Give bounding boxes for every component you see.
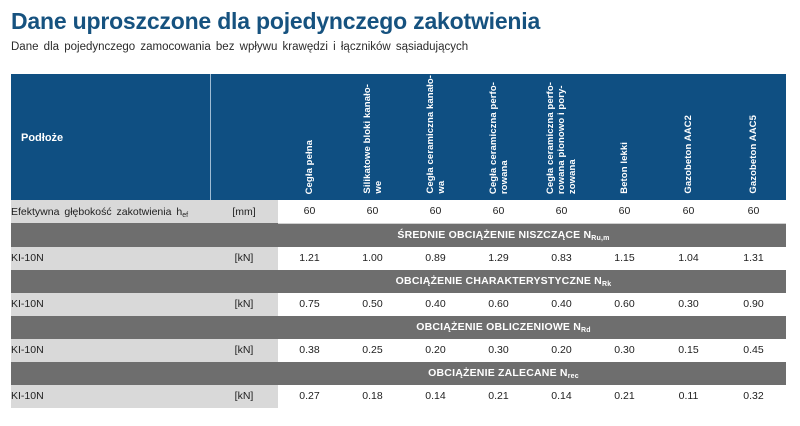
band-cell-0: ŚREDNIE OBCIĄŻENIE NISZCZĄCE NRu,m <box>11 223 786 247</box>
cell-s1-2: 0.40 <box>404 293 467 316</box>
header-cell-col-6: Gazobeton AAC2 <box>656 74 721 200</box>
band-title-2: OBCIĄŻENIE OBLICZENIOWE N <box>416 321 581 333</box>
header-substrate-label: Podłoże <box>21 132 63 144</box>
cell-s2-0: 0.38 <box>278 339 341 362</box>
table-header-row: Podłoże Cegła pełna Silikatowe bloki kan… <box>11 74 786 200</box>
anchor-data-table-wrapper: Podłoże Cegła pełna Silikatowe bloki kan… <box>11 74 786 408</box>
header-col-label-1: Silikatowe bloki kanało- we <box>362 84 384 194</box>
header-cell-col-0: Cegła pełna <box>278 74 341 200</box>
header-rotate-holder-1: Silikatowe bloki kanało- we <box>341 74 404 200</box>
table-row-recommended-load: KI-10N [kN] 0.27 0.18 0.14 0.21 0.14 0.2… <box>11 385 786 408</box>
cell-s0-5: 1.15 <box>593 247 656 270</box>
band-cell-2: OBCIĄŻENIE OBLICZENIOWE NRd <box>11 316 786 339</box>
header-rotate-holder-7: Gazobeton AAC5 <box>721 74 786 200</box>
header-col-label-4: Cegła ceramiczna perfo- rowana pionowo i… <box>545 82 578 194</box>
page-root: Dane uproszczone dla pojedynczego zakotw… <box>0 0 800 426</box>
header-rotate-holder-4: Cegła ceramiczna perfo- rowana pionowo i… <box>530 74 593 200</box>
cell-s0-7: 1.31 <box>721 247 786 270</box>
cell-s2-6: 0.15 <box>656 339 721 362</box>
cell-depth-6: 60 <box>656 200 721 223</box>
cell-depth-5: 60 <box>593 200 656 223</box>
cell-s3-4: 0.14 <box>530 385 593 408</box>
header-rotate-holder-2: Cegła ceramiczna kanało- wa <box>404 74 467 200</box>
band-inner-1: OBCIĄŻENIE CHARAKTERYSTYCZNE NRk <box>11 275 786 287</box>
row-label-effective-depth: Efektywna głębokość zakotwienia hef <box>11 200 210 223</box>
band-subscript-1: Rk <box>602 281 611 288</box>
page-title: Dane uproszczone dla pojedynczego zakotw… <box>11 8 540 35</box>
band-inner-0: ŚREDNIE OBCIĄŻENIE NISZCZĄCE NRu,m <box>11 229 786 241</box>
row-unit-3: [kN] <box>210 385 278 408</box>
header-rotate-holder-0: Cegła pełna <box>279 74 342 200</box>
cell-s3-2: 0.14 <box>404 385 467 408</box>
row-label-2: KI-10N <box>11 339 210 362</box>
header-cell-col-3: Cegła ceramiczna perfo- rowana <box>467 74 530 200</box>
header-col-label-5: Beton lekki <box>619 142 630 194</box>
cell-s0-0: 1.21 <box>278 247 341 270</box>
table-row-mean-ultimate-load: KI-10N [kN] 1.21 1.00 0.89 1.29 0.83 1.1… <box>11 247 786 270</box>
cell-s0-1: 1.00 <box>341 247 404 270</box>
cell-s1-7: 0.90 <box>721 293 786 316</box>
band-title-0: ŚREDNIE OBCIĄŻENIE NISZCZĄCE N <box>397 229 591 241</box>
section-band-characteristic-load: OBCIĄŻENIE CHARAKTERYSTYCZNE NRk <box>11 270 786 293</box>
header-cell-col-1: Silikatowe bloki kanało- we <box>341 74 404 200</box>
band-inner-2: OBCIĄŻENIE OBLICZENIOWE NRd <box>11 321 786 333</box>
anchor-data-table: Podłoże Cegła pełna Silikatowe bloki kan… <box>11 74 786 408</box>
header-cell-unit <box>210 74 278 200</box>
header-rotate-holder-6: Gazobeton AAC2 <box>656 74 721 200</box>
cell-s1-6: 0.30 <box>656 293 721 316</box>
row-unit-0: [kN] <box>210 247 278 270</box>
row-label-subscript: ef <box>182 212 188 219</box>
section-band-recommended-load: OBCIĄŻENIE ZALECANE Nrec <box>11 362 786 385</box>
cell-depth-4: 60 <box>530 200 593 223</box>
band-subscript-2: Rd <box>581 327 591 334</box>
cell-s3-5: 0.21 <box>593 385 656 408</box>
header-col-label-3: Cegła ceramiczna perfo- rowana <box>488 82 510 194</box>
header-cell-col-4: Cegła ceramiczna perfo- rowana pionowo i… <box>530 74 593 200</box>
band-subscript-0: Ru,m <box>591 235 609 242</box>
row-unit-2: [kN] <box>210 339 278 362</box>
header-cell-col-2: Cegła ceramiczna kanało- wa <box>404 74 467 200</box>
cell-s2-2: 0.20 <box>404 339 467 362</box>
cell-depth-1: 60 <box>341 200 404 223</box>
band-inner-3: OBCIĄŻENIE ZALECANE Nrec <box>11 367 786 379</box>
cell-s2-7: 0.45 <box>721 339 786 362</box>
table-row-characteristic-load: KI-10N [kN] 0.75 0.50 0.40 0.60 0.40 0.6… <box>11 293 786 316</box>
cell-s3-0: 0.27 <box>278 385 341 408</box>
header-rotate-holder-5: Beton lekki <box>593 74 656 200</box>
band-subscript-3: rec <box>568 373 579 380</box>
header-col-label-0: Cegła pełna <box>304 140 315 194</box>
section-band-design-load: OBCIĄŻENIE OBLICZENIOWE NRd <box>11 316 786 339</box>
cell-s2-4: 0.20 <box>530 339 593 362</box>
page-subtitle: Dane dla pojedynczego zamocowania bez wp… <box>11 41 468 53</box>
cell-s1-4: 0.40 <box>530 293 593 316</box>
row-unit-effective-depth: [mm] <box>210 200 278 223</box>
band-title-1: OBCIĄŻENIE CHARAKTERYSTYCZNE N <box>396 275 602 287</box>
cell-s0-3: 1.29 <box>467 247 530 270</box>
row-label-text: Efektywna głębokość zakotwienia h <box>11 206 182 218</box>
cell-s0-4: 0.83 <box>530 247 593 270</box>
header-cell-col-7: Gazobeton AAC5 <box>721 74 786 200</box>
band-cell-1: OBCIĄŻENIE CHARAKTERYSTYCZNE NRk <box>11 270 786 293</box>
cell-s1-0: 0.75 <box>278 293 341 316</box>
cell-s0-6: 1.04 <box>656 247 721 270</box>
row-label-1: KI-10N <box>11 293 210 316</box>
header-col-label-7: Gazobeton AAC5 <box>748 115 759 194</box>
cell-depth-7: 60 <box>721 200 786 223</box>
cell-s2-1: 0.25 <box>341 339 404 362</box>
cell-s1-5: 0.60 <box>593 293 656 316</box>
cell-depth-0: 60 <box>278 200 341 223</box>
cell-s2-5: 0.30 <box>593 339 656 362</box>
cell-s3-1: 0.18 <box>341 385 404 408</box>
row-unit-1: [kN] <box>210 293 278 316</box>
header-col-label-6: Gazobeton AAC2 <box>683 115 694 194</box>
table-row-effective-depth: Efektywna głębokość zakotwienia hef [mm]… <box>11 200 786 223</box>
header-col-label-2: Cegła ceramiczna kanało- wa <box>425 75 447 194</box>
table-row-design-load: KI-10N [kN] 0.38 0.25 0.20 0.30 0.20 0.3… <box>11 339 786 362</box>
cell-s1-3: 0.60 <box>467 293 530 316</box>
cell-s3-6: 0.11 <box>656 385 721 408</box>
band-title-3: OBCIĄŻENIE ZALECANE N <box>428 367 568 379</box>
cell-s2-3: 0.30 <box>467 339 530 362</box>
header-rotate-holder-3: Cegła ceramiczna perfo- rowana <box>467 74 530 200</box>
band-cell-3: OBCIĄŻENIE ZALECANE Nrec <box>11 362 786 385</box>
cell-s3-3: 0.21 <box>467 385 530 408</box>
section-band-mean-ultimate-load: ŚREDNIE OBCIĄŻENIE NISZCZĄCE NRu,m <box>11 223 786 247</box>
header-cell-col-5: Beton lekki <box>593 74 656 200</box>
row-label-3: KI-10N <box>11 385 210 408</box>
header-cell-substrate: Podłoże <box>11 74 210 200</box>
cell-s0-2: 0.89 <box>404 247 467 270</box>
cell-s3-7: 0.32 <box>721 385 786 408</box>
row-label-0: KI-10N <box>11 247 210 270</box>
cell-depth-3: 60 <box>467 200 530 223</box>
cell-s1-1: 0.50 <box>341 293 404 316</box>
cell-depth-2: 60 <box>404 200 467 223</box>
